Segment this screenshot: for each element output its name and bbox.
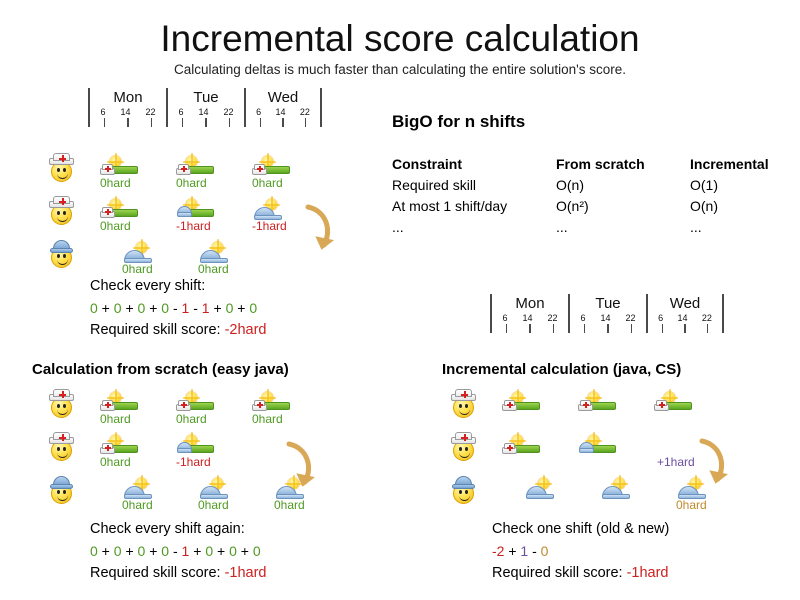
red-cross-icon	[461, 391, 468, 398]
score-formula: -2 + 1 - 0	[492, 543, 548, 560]
avatar-worker-1	[450, 474, 477, 506]
avatar-mouth	[459, 452, 470, 458]
shift-score-label: 0hard	[676, 499, 707, 512]
nurse-cap-icon	[451, 432, 476, 444]
hardhat-icon	[579, 442, 594, 453]
red-cross-icon	[659, 402, 665, 408]
red-cross-icon	[507, 402, 513, 408]
nurse-cap-icon	[654, 400, 669, 412]
avatar-nurse-2	[450, 431, 477, 463]
shift-assignment[interactable]	[578, 392, 618, 414]
formula-term: +	[504, 543, 520, 559]
shift-assignment[interactable]	[524, 478, 564, 500]
total-score-line: Required skill score: -1hard	[492, 565, 669, 582]
nurse-cap-icon	[502, 400, 517, 412]
avatar-eye	[459, 404, 462, 408]
avatar-mouth	[459, 409, 470, 415]
shift-assignment[interactable]	[502, 392, 542, 414]
avatar-mouth	[459, 495, 470, 501]
move-arrow-incremental	[690, 437, 750, 497]
move-arrow-top	[296, 203, 356, 259]
formula-term: 0	[541, 543, 549, 559]
nurse-cap-icon	[451, 389, 476, 401]
red-cross-icon	[507, 445, 513, 451]
shift-assignment[interactable]	[654, 392, 694, 414]
avatar-eye	[465, 490, 468, 494]
hardhat-icon	[452, 476, 475, 488]
blue-shift-bar	[602, 486, 630, 499]
shift-assignment[interactable]	[502, 435, 542, 457]
shift-assignment[interactable]	[578, 435, 618, 457]
avatar-eye	[465, 447, 468, 451]
red-cross-icon	[461, 434, 468, 441]
summary-title: Check one shift (old & new)	[492, 521, 669, 538]
avatar-eye	[459, 447, 462, 451]
red-cross-icon	[583, 402, 589, 408]
avatar-eye	[459, 490, 462, 494]
avatar-nurse-1	[450, 388, 477, 420]
blue-shift-bar	[526, 486, 554, 499]
avatar-eye	[465, 404, 468, 408]
formula-term: -	[528, 543, 540, 559]
shift-assignment[interactable]	[600, 478, 640, 500]
nurse-cap-icon	[502, 443, 517, 455]
nurse-cap-icon	[578, 400, 593, 412]
move-arrow-scratch	[277, 440, 337, 500]
schedule-incremental: 0hardCheck one shift (old & new)-2 + 1 -…	[0, 0, 800, 600]
total-score-label: Required skill score:	[492, 565, 627, 581]
formula-term: -2	[492, 543, 504, 559]
total-score-value: -1hard	[627, 565, 669, 581]
